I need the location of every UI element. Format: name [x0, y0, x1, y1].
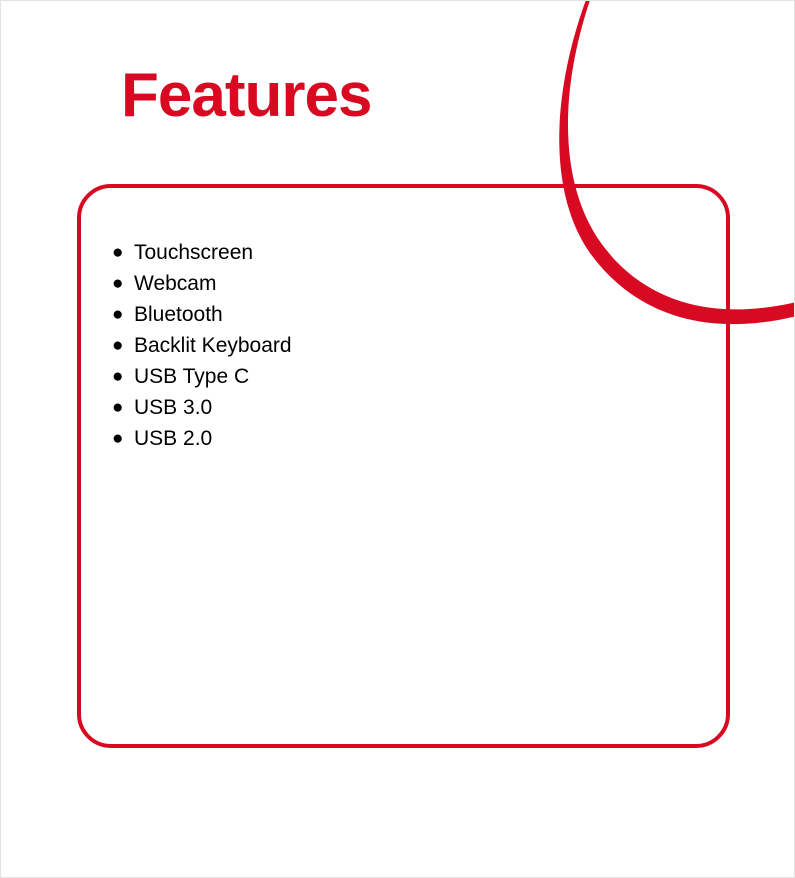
list-item: ●USB 2.0 — [112, 423, 672, 454]
bullet-icon: ● — [112, 268, 134, 299]
features-list: ●Touchscreen ●Webcam ●Bluetooth ●Backlit… — [112, 237, 672, 454]
list-item-label: Bluetooth — [134, 299, 223, 330]
bullet-icon: ● — [112, 330, 134, 361]
list-item-label: Backlit Keyboard — [134, 330, 292, 361]
bullet-icon: ● — [112, 299, 134, 330]
list-item-label: USB 2.0 — [134, 423, 212, 454]
list-item: ●USB Type C — [112, 361, 672, 392]
bullet-icon: ● — [112, 361, 134, 392]
list-item: ●Touchscreen — [112, 237, 672, 268]
list-item: ●USB 3.0 — [112, 392, 672, 423]
list-item: ●Webcam — [112, 268, 672, 299]
list-item-label: USB 3.0 — [134, 392, 212, 423]
bullet-icon: ● — [112, 237, 134, 268]
bullet-icon: ● — [112, 423, 134, 454]
list-item-label: Touchscreen — [134, 237, 253, 268]
list-item-label: Webcam — [134, 268, 216, 299]
bullet-icon: ● — [112, 392, 134, 423]
page-title: Features — [121, 63, 371, 128]
list-item: ●Bluetooth — [112, 299, 672, 330]
list-item: ●Backlit Keyboard — [112, 330, 672, 361]
list-item-label: USB Type C — [134, 361, 249, 392]
slide-canvas: Features ●Touchscreen ●Webcam ●Bluetooth… — [0, 0, 795, 878]
